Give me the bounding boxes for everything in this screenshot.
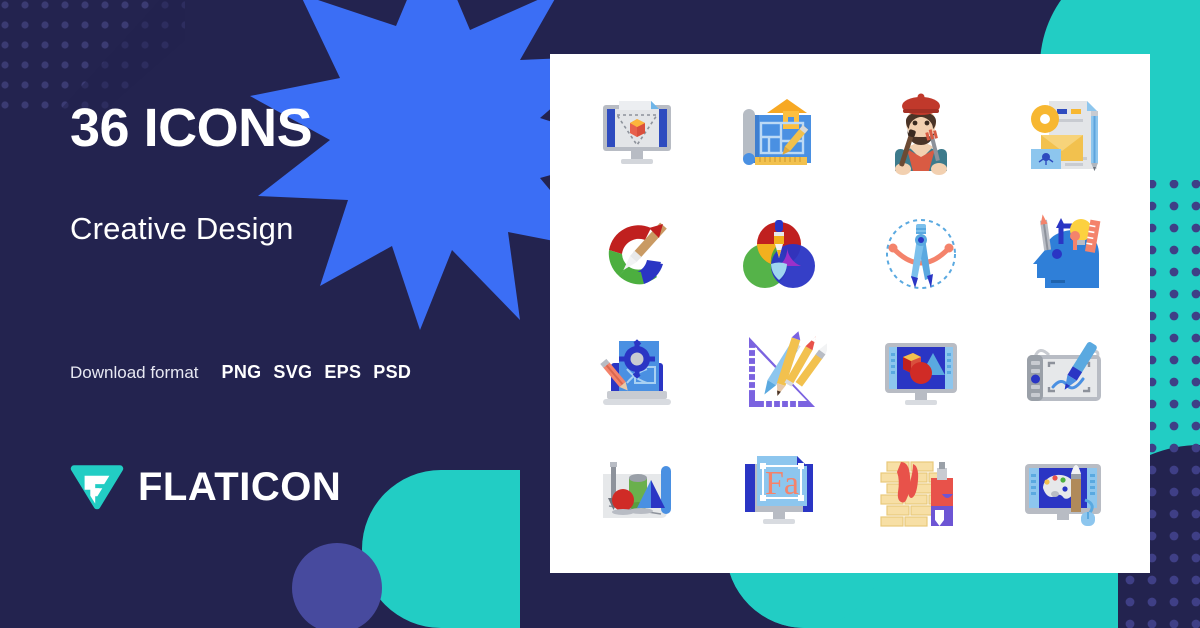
download-format-list: PNG SVG EPS PSD (222, 362, 412, 383)
typography-sample-text: Fa (765, 465, 799, 502)
icon-cell-graphics-tablet[interactable] (992, 314, 1134, 433)
paint-brush-palette-icon (589, 206, 685, 302)
format-psd[interactable]: PSD (373, 362, 411, 383)
format-eps[interactable]: EPS (324, 362, 361, 383)
icon-grid-card: Fa (550, 54, 1150, 573)
icon-cell-3d-shapes-sketch[interactable] (566, 432, 708, 551)
page-title: 36 ICONS (70, 101, 312, 155)
poster-canvas: 36 ICONS Creative Design Download format… (0, 0, 1200, 628)
download-format-row: Download format PNG SVG EPS PSD (70, 362, 411, 383)
creative-mind-icon (1015, 206, 1111, 302)
page-subtitle: Creative Design (70, 213, 294, 244)
graphic-design-monitor-icon (873, 325, 969, 421)
icon-cell-digital-art-tablet[interactable] (992, 432, 1134, 551)
3d-shapes-sketch-icon (589, 444, 685, 540)
icon-cell-artist-character[interactable] (850, 76, 992, 195)
drawing-tools-ruler-icon (731, 325, 827, 421)
icon-cell-typography-monitor[interactable]: Fa (708, 432, 850, 551)
compass-divider-icon (873, 206, 969, 302)
icon-grid: Fa (550, 54, 1150, 573)
icon-cell-color-wheel-dropper[interactable] (708, 195, 850, 314)
icon-cell-paint-brush-palette[interactable] (566, 195, 708, 314)
color-wheel-dropper-icon (731, 206, 827, 302)
format-png[interactable]: PNG (222, 362, 262, 383)
3d-modeling-monitor-icon (589, 87, 685, 183)
icon-cell-graphic-design-monitor[interactable] (850, 314, 992, 433)
laptop-design-gear-icon (589, 325, 685, 421)
icon-cell-blueprint-house[interactable] (708, 76, 850, 195)
icon-cell-graffiti-spray[interactable] (850, 432, 992, 551)
branding-stationery-icon (1015, 87, 1111, 183)
graffiti-spray-icon (873, 444, 969, 540)
icon-cell-creative-mind[interactable] (992, 195, 1134, 314)
icon-cell-compass-divider[interactable] (850, 195, 992, 314)
download-format-label: Download format (70, 363, 199, 383)
hero-text-column: 36 ICONS Creative Design Download format… (70, 0, 540, 628)
blueprint-house-icon (731, 87, 827, 183)
flaticon-triangle-f-icon (70, 462, 124, 512)
digital-art-tablet-icon (1015, 444, 1111, 540)
icon-cell-3d-modeling-monitor[interactable] (566, 76, 708, 195)
artist-character-icon (873, 87, 969, 183)
icon-cell-branding-stationery[interactable] (992, 76, 1134, 195)
icon-cell-laptop-design-gear[interactable] (566, 314, 708, 433)
icon-cell-drawing-tools-ruler[interactable] (708, 314, 850, 433)
graphics-tablet-icon (1015, 325, 1111, 421)
format-svg[interactable]: SVG (273, 362, 312, 383)
flaticon-logo[interactable]: FLATICON (70, 462, 341, 512)
typography-monitor-icon: Fa (731, 444, 827, 540)
flaticon-wordmark: FLATICON (138, 467, 341, 507)
